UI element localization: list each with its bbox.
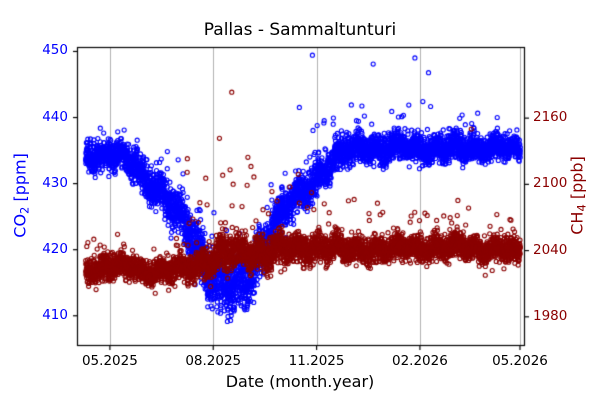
y-tick-left-440: 440 bbox=[8, 109, 68, 125]
y-tick-left-420: 420 bbox=[8, 241, 68, 257]
y-axis-label-right: CH4 [ppb] bbox=[568, 130, 589, 260]
x-tick-11.2025: 11.2025 bbox=[267, 353, 367, 369]
y-tick-right-2040: 2040 bbox=[533, 242, 567, 258]
chart-title: Pallas - Sammaltunturi bbox=[0, 20, 600, 40]
x-tick-02.2026: 02.2026 bbox=[370, 353, 470, 369]
chart-figure: Pallas - Sammaltunturi Date (month.year)… bbox=[0, 0, 600, 400]
x-axis-label: Date (month.year) bbox=[0, 372, 600, 391]
x-tick-05.2025: 05.2025 bbox=[60, 353, 160, 369]
x-tick-05.2026: 05.2026 bbox=[470, 353, 570, 369]
y-tick-left-410: 410 bbox=[8, 307, 68, 323]
x-tick-08.2025: 08.2025 bbox=[163, 353, 263, 369]
y-tick-left-450: 450 bbox=[8, 42, 68, 58]
y-tick-right-2160: 2160 bbox=[533, 109, 567, 125]
y-tick-right-1980: 1980 bbox=[533, 308, 567, 324]
y-tick-right-2100: 2100 bbox=[533, 175, 567, 191]
y-tick-left-430: 430 bbox=[8, 175, 68, 191]
scatter-plot-canvas bbox=[0, 0, 600, 400]
